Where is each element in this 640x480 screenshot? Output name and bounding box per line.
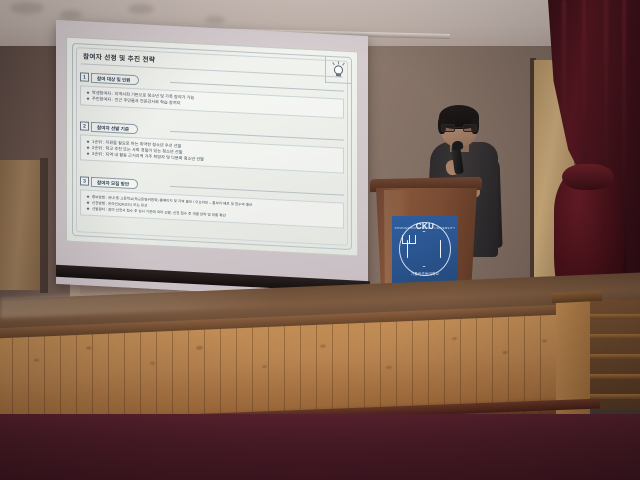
section-2-number: 2	[80, 121, 89, 130]
curtain-knot	[562, 164, 614, 190]
stair-side-panel	[556, 296, 590, 414]
microphone-capsule	[451, 140, 463, 150]
open-book-icon	[402, 235, 416, 244]
university-emblem: CHONGSHIN KYONGGI UNIVERSITY CKU 가톨릭관동대학…	[392, 216, 458, 284]
auditorium-scene: 참여자 선정 및 추진 전략 1 참여 대상 및 인원 학생참여자 : 지역사회…	[0, 0, 640, 480]
slide-icon-box	[325, 57, 351, 84]
section-3-header: 참여자 모집 방안	[91, 176, 138, 188]
section-1-header: 참여 대상 및 인원	[91, 72, 139, 84]
left-door-frame	[40, 158, 48, 293]
emblem-arc-bottom-text: 가톨릭관동대학교	[392, 272, 458, 277]
section-1-number: 1	[80, 72, 89, 81]
emblem-abbreviation: CKU	[392, 222, 458, 231]
floor-carpet	[0, 414, 640, 480]
section-2-header: 참여자 선발 기준	[91, 121, 138, 133]
projected-slide: 참여자 선정 및 추진 전략 1 참여 대상 및 인원 학생참여자 : 지역사회…	[66, 37, 358, 257]
section-3-number: 3	[80, 176, 89, 185]
eyeglasses-icon	[441, 124, 477, 132]
